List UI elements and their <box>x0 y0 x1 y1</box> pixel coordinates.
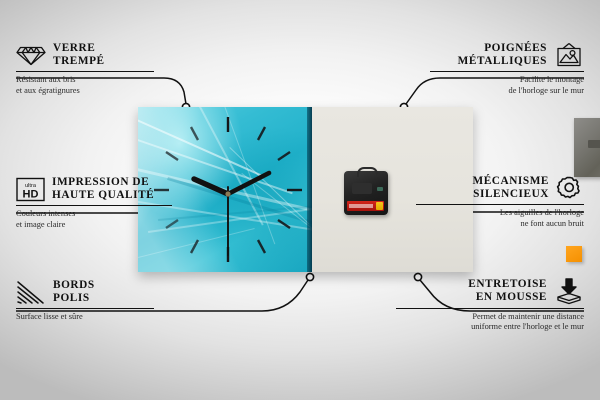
feature-entretoise-en-mousse: ENTRETOISE EN MOUSSE Permet de maintenir… <box>396 277 584 333</box>
feature-sub-line1: Permet de maintenir une distance <box>396 312 584 322</box>
feature-poignees-metalliques: POIGNÉES MÉTALLIQUES Facilite le montage… <box>430 42 584 96</box>
battery-label <box>349 204 373 208</box>
clock-minute-hand <box>228 173 269 194</box>
feature-title-line1: VERRE <box>53 42 105 55</box>
picture-frame-icon <box>554 42 584 68</box>
feature-sub-line2: uniforme entre l'horloge et le mur <box>396 322 584 332</box>
feature-rule <box>16 308 154 309</box>
feature-title-line2: POLIS <box>53 292 95 305</box>
feature-rule <box>416 204 584 205</box>
clock-hour-hand <box>194 179 228 194</box>
battery-terminal <box>376 202 383 210</box>
feature-title-line1: IMPRESSION DE <box>52 176 154 189</box>
feature-sub-line1: Facilite le montage <box>430 75 584 85</box>
foam-spacer-icon <box>554 277 584 305</box>
feature-sub-line1: Couleurs intenses <box>16 209 186 219</box>
feature-sub-line2: ne font aucun bruit <box>416 219 584 229</box>
battery <box>347 201 384 211</box>
feature-sub-line1: Surface lisse et sûre <box>16 312 166 322</box>
feature-sub-line2: et aux égratignures <box>16 86 166 96</box>
mechanism-hook <box>357 167 378 177</box>
feature-verre-trempe: VERRE TREMPÉ Résistant aux bris et aux é… <box>16 42 166 96</box>
feature-sub-line2: de l'horloge sur le mur <box>430 86 584 96</box>
feature-title-line1: ENTRETOISE <box>468 278 547 291</box>
mechanism-indicator <box>377 187 383 191</box>
feature-title-line2: HAUTE QUALITÉ <box>52 189 154 202</box>
connector-node-bords-polis <box>306 273 313 280</box>
feature-title-line1: POIGNÉES <box>458 42 547 55</box>
clock-mechanism <box>344 171 388 215</box>
feature-header: VERRE TREMPÉ <box>16 42 166 68</box>
feature-sub-line1: Les aiguilles de l'horloge <box>416 208 584 218</box>
feature-title-line2: MÉTALLIQUES <box>458 55 547 68</box>
diamond-icon <box>16 43 46 67</box>
feature-rule <box>430 71 584 72</box>
ultra-hd-icon: ultra HD <box>16 177 45 202</box>
hanger-slot <box>588 140 600 148</box>
polished-edges-icon <box>16 280 46 305</box>
feature-rule <box>16 71 154 72</box>
metal-hanger-plate <box>574 118 600 177</box>
feature-title-line1: BORDS <box>53 279 95 292</box>
feature-title-line1: MÉCANISME <box>473 175 550 188</box>
feature-bords-polis: BORDS POLIS Surface lisse et sûre <box>16 279 166 323</box>
gear-icon <box>556 175 584 201</box>
feature-header: ENTRETOISE EN MOUSSE <box>396 277 584 305</box>
feature-header: POIGNÉES MÉTALLIQUES <box>430 42 584 68</box>
feature-header: ultra HD IMPRESSION DE HAUTE QUALITÉ <box>16 176 186 202</box>
feature-title-line2: EN MOUSSE <box>468 291 547 304</box>
feature-header: MÉCANISME SILENCIEUX <box>416 175 584 201</box>
feature-sub-line1: Résistant aux bris <box>16 75 166 85</box>
feature-rule <box>396 308 584 309</box>
feature-sub-line2: et image claire <box>16 220 186 230</box>
feature-title-line2: SILENCIEUX <box>473 188 550 201</box>
feature-rule <box>16 205 172 206</box>
feature-impression-haute-qualite: ultra HD IMPRESSION DE HAUTE QUALITÉ Cou… <box>16 176 186 230</box>
clock-center-cap <box>225 191 230 196</box>
mechanism-body <box>352 183 372 194</box>
feature-header: BORDS POLIS <box>16 279 166 305</box>
ultra-hd-icon-bottom: HD <box>23 188 39 200</box>
feature-title-line2: TREMPÉ <box>53 55 105 68</box>
foam-spacer <box>566 246 582 262</box>
infographic-canvas: VERRE TREMPÉ Résistant aux bris et aux é… <box>0 0 600 400</box>
feature-mecanisme-silencieux: MÉCANISME SILENCIEUX Les aiguilles de l'… <box>416 175 584 229</box>
